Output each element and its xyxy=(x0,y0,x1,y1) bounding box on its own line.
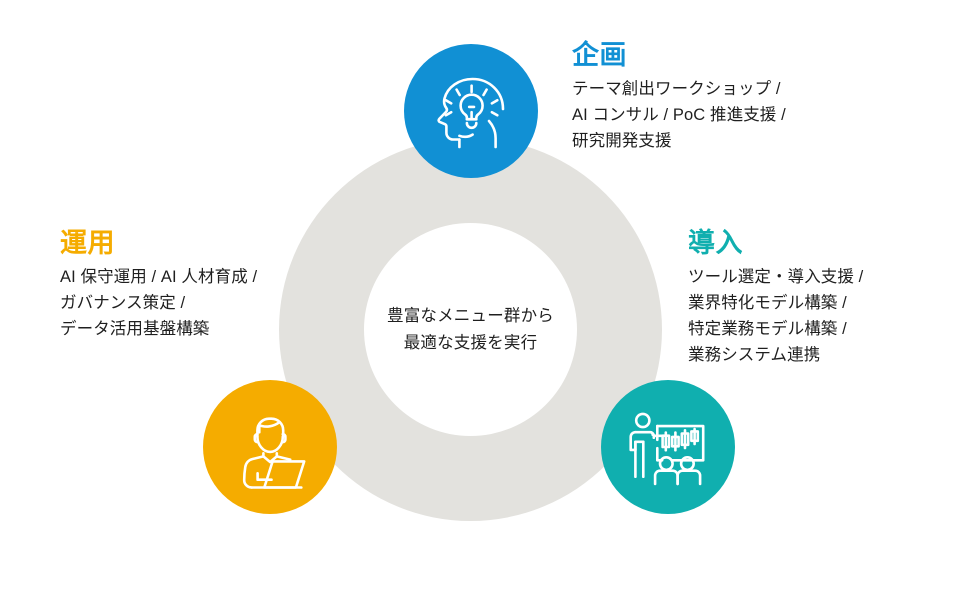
heading-plan: 企画 xyxy=(572,40,902,71)
donut-center-text: 豊富なメニュー群から 最適な支援を実行 xyxy=(364,223,577,436)
text-block-operations: 運用 AI 保守運用 / AI 人材育成 / ガバナンス策定 / データ活用基盤… xyxy=(60,228,300,343)
diagram-canvas: 豊富なメニュー群から 最適な支援を実行 xyxy=(0,0,960,597)
node-circle-plan[interactable] xyxy=(404,44,538,178)
body-plan: テーマ創出ワークショップ / AI コンサル / PoC 推進支援 / 研究開発… xyxy=(572,77,902,155)
person-laptop-icon xyxy=(224,401,316,493)
center-text-line-1: 豊富なメニュー群から xyxy=(387,303,554,330)
node-circle-deployment[interactable] xyxy=(601,380,735,514)
body-operations: AI 保守運用 / AI 人材育成 / ガバナンス策定 / データ活用基盤構築 xyxy=(60,265,300,343)
text-block-plan: 企画 テーマ創出ワークショップ / AI コンサル / PoC 推進支援 / 研… xyxy=(572,40,902,155)
center-text-line-2: 最適な支援を実行 xyxy=(404,330,538,357)
heading-deployment: 導入 xyxy=(688,228,938,259)
heading-operations: 運用 xyxy=(60,228,300,259)
body-deployment: ツール選定・導入支援 / 業界特化モデル構築 / 特定業務モデル構築 / 業務シ… xyxy=(688,265,938,369)
text-block-deployment: 導入 ツール選定・導入支援 / 業界特化モデル構築 / 特定業務モデル構築 / … xyxy=(688,228,938,369)
head-lightbulb-icon xyxy=(425,65,517,157)
presenter-chart-icon xyxy=(622,401,714,493)
node-circle-operations[interactable] xyxy=(203,380,337,514)
